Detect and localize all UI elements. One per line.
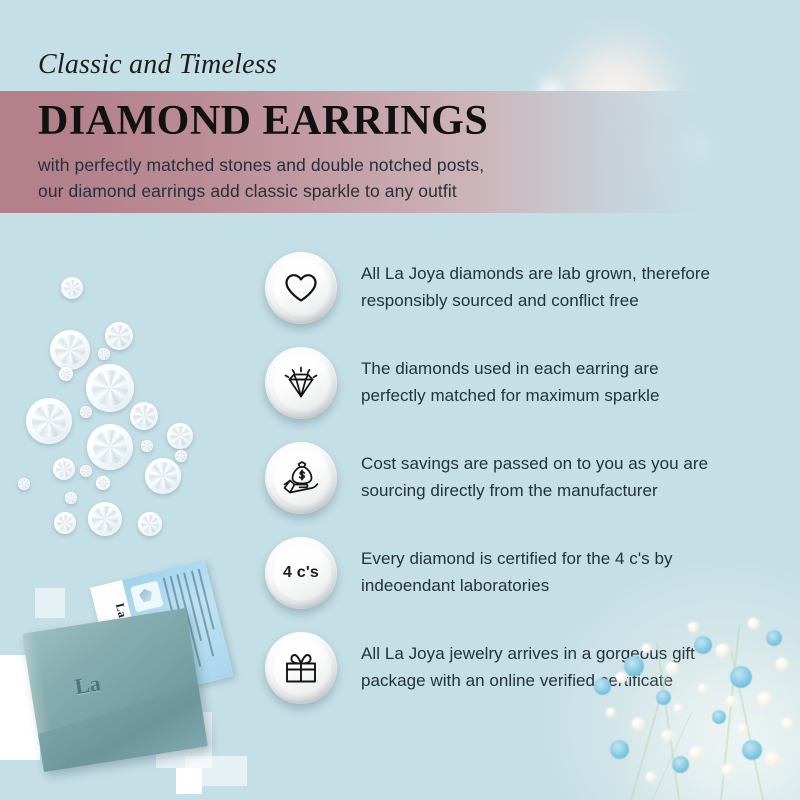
flower-bud-blue [766, 630, 782, 646]
feature-text-line-1: Cost savings are passed on to you as you… [361, 450, 781, 477]
flower-bud-white [716, 644, 729, 657]
flower-bud-blue [672, 756, 689, 773]
diamond-gem [167, 423, 193, 449]
four-cs-text-icon: 4 c's [283, 564, 319, 582]
feature-text: Every diamond is certified for the 4 c's… [361, 545, 781, 599]
flower-bud-white [646, 772, 656, 782]
header-subtitle: with perfectly matched stones and double… [38, 152, 484, 204]
feature-row: All La Joya diamonds are lab grown, ther… [265, 252, 785, 347]
diamond-gem [18, 478, 30, 490]
diamond-gem [80, 406, 92, 418]
diamond-gem [88, 502, 122, 536]
flower-bud-blue [694, 636, 712, 654]
diamond-gem [105, 322, 133, 350]
feature-text: All La Joya diamonds are lab grown, ther… [361, 260, 781, 314]
feature-text-line-1: The diamonds used in each earring are [361, 355, 781, 382]
flower-bud-white [766, 752, 780, 766]
header-subtitle-line-2: our diamond earrings add classic sparkle… [38, 178, 484, 204]
feature-text-line-2: indeoendant laboratories [361, 572, 781, 599]
babys-breath-flowers [570, 600, 800, 800]
flower-bud-white [662, 730, 673, 741]
diamond-gem [50, 330, 90, 370]
gift-box-icon [284, 652, 318, 684]
flower-bud-blue [624, 656, 644, 676]
certificate-gem-illustration [130, 581, 163, 613]
diamond-gem [80, 465, 92, 477]
loose-diamonds-cluster [20, 260, 240, 550]
diamond-sparkle-icon [283, 366, 319, 400]
certificate-text-column [198, 569, 215, 630]
money-bag-in-hand-icon [282, 461, 320, 495]
diamond-gem [86, 364, 134, 412]
feature-text-line-2: perfectly matched for maximum sparkle [361, 382, 781, 409]
flower-bud-blue [610, 740, 629, 759]
flower-bud-blue [594, 678, 611, 695]
feature-row: The diamonds used in each earring are pe… [265, 347, 785, 442]
diamond-gem [87, 424, 133, 470]
pouch-flap [34, 685, 208, 772]
eyebrow-text: Classic and Timeless [38, 49, 277, 81]
feature-icon-badge[interactable]: 4 c's [265, 537, 337, 609]
flower-bud-white [738, 724, 747, 733]
flower-bud-blue [742, 740, 762, 760]
flower-bud-white [758, 692, 772, 706]
flower-bud-white [690, 746, 703, 759]
diamond-gem [65, 492, 77, 504]
diamond-gem [98, 348, 110, 360]
flower-bud-white [782, 718, 793, 729]
feature-icon-badge[interactable] [265, 632, 337, 704]
diamond-gem [138, 512, 162, 536]
flower-bud-white [616, 672, 627, 683]
feature-icon-badge[interactable] [265, 347, 337, 419]
product-packaging-shot: La Joya La [18, 588, 248, 788]
diamond-gem [96, 476, 110, 490]
diamond-gem [54, 512, 76, 534]
flower-bud-blue [656, 690, 671, 705]
flower-bud-white [776, 658, 788, 670]
pouch-brand-label: La [73, 670, 102, 700]
feature-text: Cost savings are passed on to you as you… [361, 450, 781, 504]
diamond-gem [26, 398, 72, 444]
feature-row: Cost savings are passed on to you as you… [265, 442, 785, 537]
page-title: DIAMOND EARRINGS [38, 99, 488, 143]
feature-text-line-2: sourcing directly from the manufacturer [361, 477, 781, 504]
jewelry-pouch: La [22, 608, 208, 772]
flower-bud-white [748, 618, 759, 629]
flower-bud-white [722, 764, 734, 776]
heart-icon [284, 273, 318, 303]
diamond-gem [53, 458, 75, 480]
diamond-gem [141, 440, 153, 452]
flower-bud-white [688, 622, 698, 632]
header-subtitle-line-1: with perfectly matched stones and double… [38, 152, 484, 178]
feature-icon-badge[interactable] [265, 252, 337, 324]
flower-bud-blue [730, 666, 752, 688]
feature-text-line-2: responsibly sourced and conflict free [361, 287, 781, 314]
diamond-gem [175, 450, 187, 462]
diamond-gem [59, 367, 73, 381]
feature-text: The diamonds used in each earring are pe… [361, 355, 781, 409]
flower-bud-white [606, 708, 615, 717]
diamond-gem [130, 402, 158, 430]
feature-text-line-1: All La Joya diamonds are lab grown, ther… [361, 260, 781, 287]
flower-bud-white [726, 696, 736, 706]
feature-icon-badge[interactable] [265, 442, 337, 514]
diamond-gem [61, 277, 83, 299]
flower-bud-blue [712, 710, 726, 724]
feature-text-line-1: Every diamond is certified for the 4 c's… [361, 545, 781, 572]
flower-bud-white [674, 704, 682, 712]
flower-bud-white [666, 662, 678, 674]
flower-bud-white [632, 718, 644, 730]
flower-bud-white [642, 644, 651, 653]
diamond-gem [145, 458, 181, 494]
flower-bud-white [698, 684, 707, 693]
diamond-earrings-infographic: Classic and Timeless DIAMOND EARRINGS wi… [0, 0, 800, 800]
